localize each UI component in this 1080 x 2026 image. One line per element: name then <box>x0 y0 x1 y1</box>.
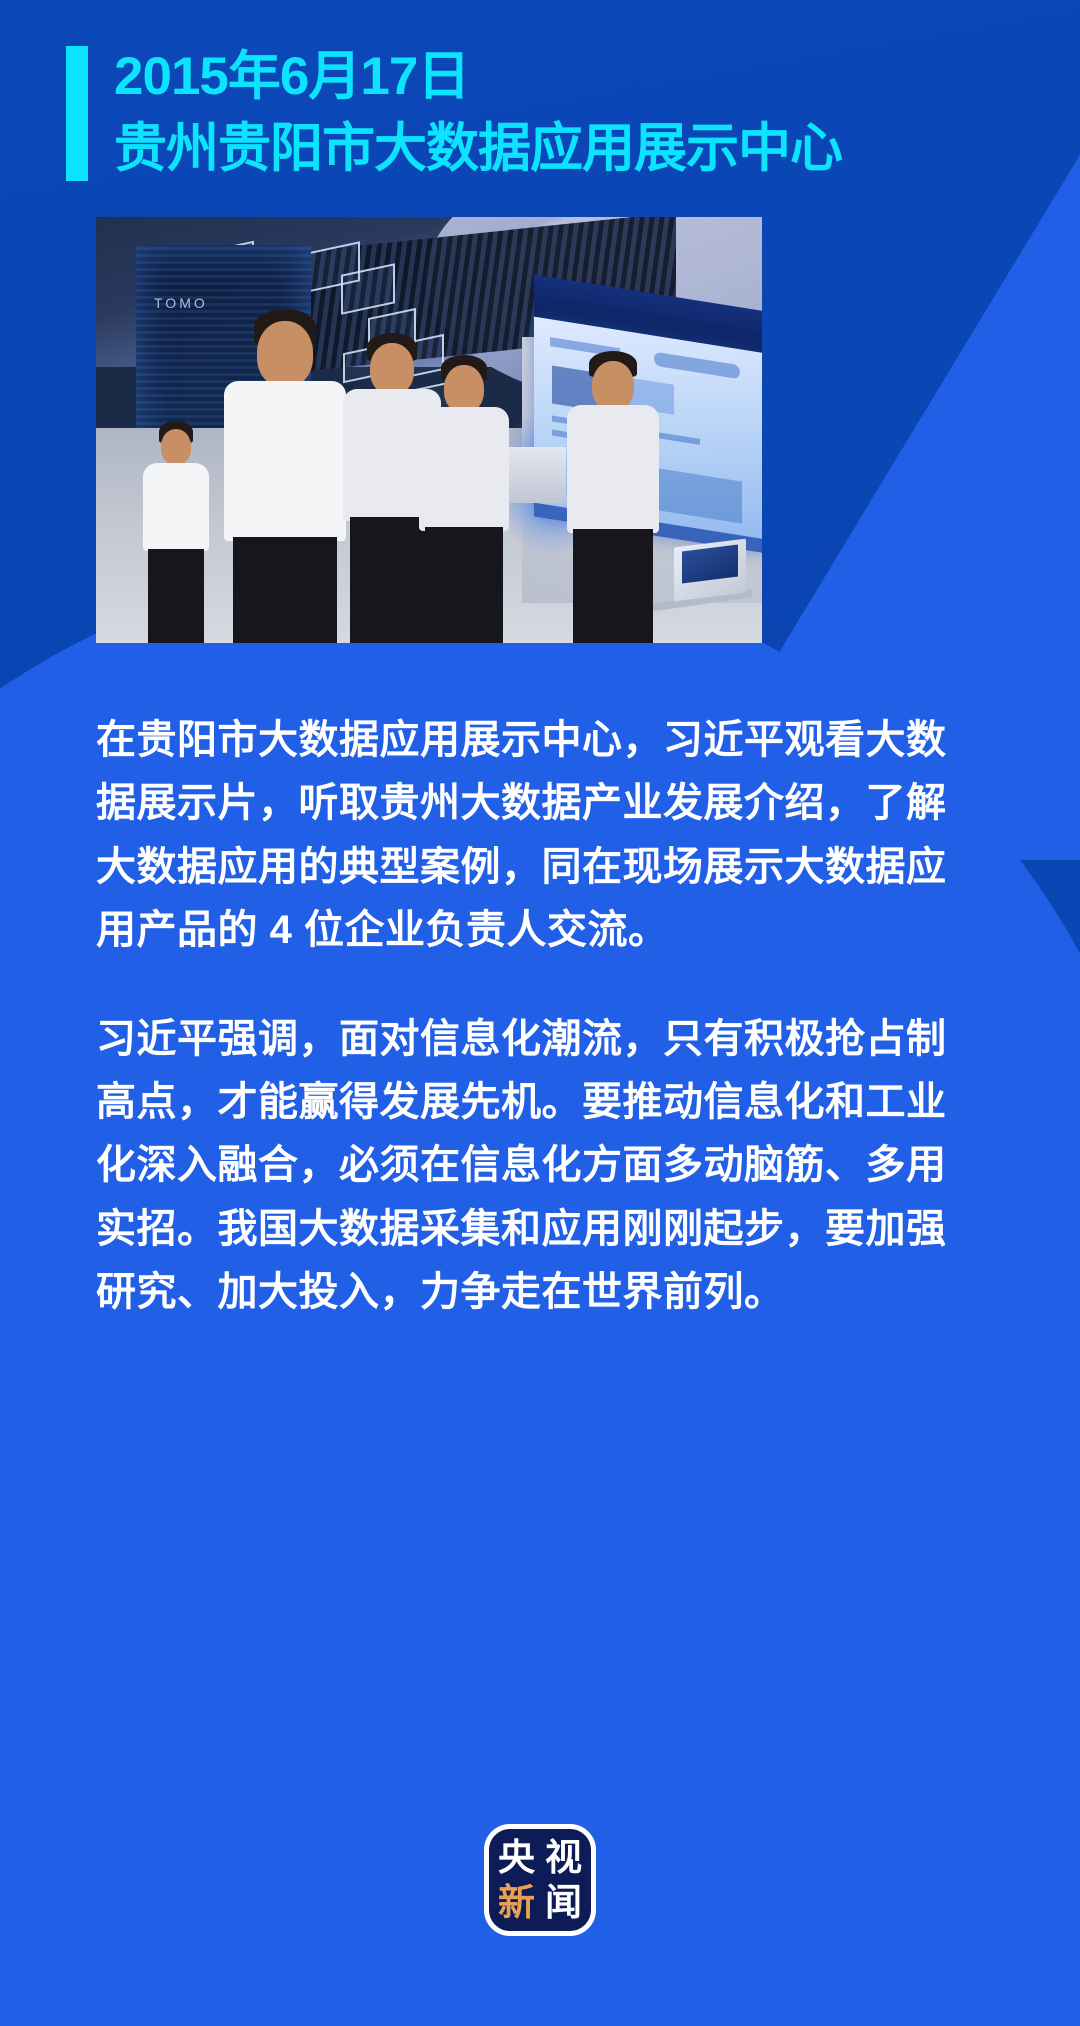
header-location: 贵州贵阳市大数据应用展示中心 <box>114 117 842 182</box>
logo-char-wen: 闻 <box>545 1884 582 1921</box>
photo-panel-label: TOMO <box>154 295 208 311</box>
logo-char-shi: 视 <box>545 1839 582 1876</box>
header-accent-bar <box>66 46 88 181</box>
header-date: 2015年6月17日 <box>114 46 842 109</box>
article-body: 在贵阳市大数据应用展示中心，习近平观看大数据展示片，听取贵州大数据产业发展介绍，… <box>96 709 976 1324</box>
photo-laptop <box>674 539 746 602</box>
logo-char-xin: 新 <box>498 1884 535 1921</box>
feature-photo: TOMO <box>96 217 762 643</box>
cctv-news-logo: 央 视 新 闻 <box>0 1824 1080 1936</box>
photo-person <box>416 345 512 643</box>
photo-person <box>564 343 662 643</box>
header: 2015年6月17日 贵州贵阳市大数据应用展示中心 <box>0 0 1080 181</box>
article-paragraph-2: 习近平强调，面对信息化潮流，只有积极抢占制高点，才能赢得发展先机。要推动信息化和… <box>96 1008 976 1324</box>
photo-person <box>138 413 214 643</box>
logo-badge: 央 视 新 闻 <box>484 1824 596 1936</box>
article-paragraph-1: 在贵阳市大数据应用展示中心，习近平观看大数据展示片，听取贵州大数据产业发展介绍，… <box>96 709 976 962</box>
photo-person-main <box>220 303 350 643</box>
logo-char-yang: 央 <box>498 1839 535 1876</box>
background-bottom-fill <box>0 1596 1080 2026</box>
photo-illustration: TOMO <box>96 217 762 643</box>
